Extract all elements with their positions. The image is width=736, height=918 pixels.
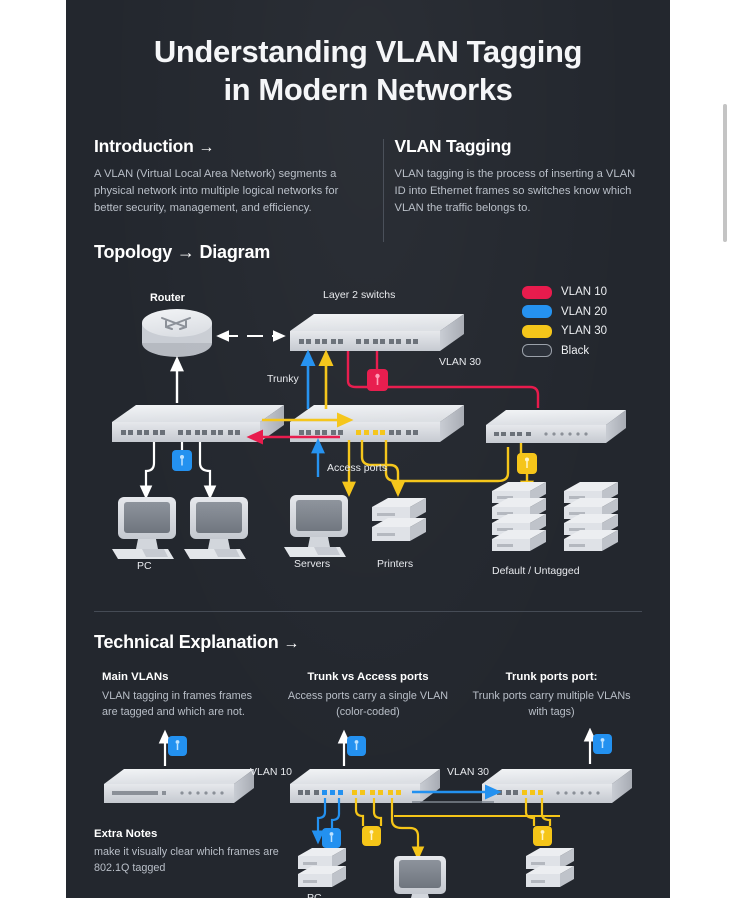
pc1-link [146, 442, 154, 493]
label-access-ports: Access ports [327, 462, 387, 474]
printer-device [372, 498, 426, 541]
untagged-rack-2 [564, 482, 618, 551]
introduction-heading-text: Introduction [94, 136, 194, 156]
legend-item-vlan20: VLAN 20 [522, 305, 642, 318]
label-router: Router [150, 292, 185, 304]
pc-device-2 [184, 497, 248, 559]
tech-switch-left [104, 769, 254, 803]
label-tech-vlan10: VLAN 10 [250, 766, 292, 778]
tech-tag-blue-4 [322, 828, 341, 848]
topology-heading: Topology → Diagram [94, 242, 642, 263]
label-layer2-switches: Layer 2 switchs [323, 289, 395, 301]
tech-tag-yellow-2 [533, 826, 552, 846]
tech-switch-center [290, 769, 440, 803]
introduction-body: A VLAN (Virtual Local Area Network) segm… [94, 166, 342, 217]
technical-column-main-vlans: Main VLANs VLAN tagging in frames frames… [94, 671, 275, 720]
topology-diagram: Router Layer 2 switchs Trunky VLAN 30 Ac… [94, 277, 642, 607]
tech-rack-right [526, 848, 574, 887]
page-scrollbar-thumb[interactable] [723, 104, 727, 242]
router-device [142, 309, 212, 357]
arrow-right-icon: → [198, 139, 214, 156]
page-title-line-2: in Modern Networks [94, 71, 642, 109]
technical-title-0: Main VLANs [102, 671, 267, 683]
vlan30-tag-icon [517, 453, 537, 474]
tech-monitor [388, 856, 446, 898]
label-printers: Printers [377, 558, 413, 570]
technical-body-2: Trunk ports carry multiple VLANs with ta… [469, 688, 634, 720]
legend-label-vlan20: VLAN 20 [561, 306, 607, 318]
server-device [284, 495, 348, 557]
infographic-inner: Understanding VLAN Tagging in Modern Net… [94, 0, 642, 898]
vlan-legend: VLAN 10 VLAN 20 YLAN 30 Black [522, 286, 642, 364]
vlan-tagging-body: VLAN tagging is the process of inserting… [395, 166, 643, 217]
intro-row: Introduction → A VLAN (Virtual Local Are… [94, 136, 642, 217]
label-servers: Servers [294, 558, 330, 570]
extra-notes: Extra Notes make it visually clear which… [94, 828, 309, 876]
vlan-tagging-heading: VLAN Tagging [395, 136, 643, 157]
page-title: Understanding VLAN Tagging in Modern Net… [94, 33, 642, 109]
technical-heading: Technical Explanation → [94, 632, 642, 653]
legend-item-vlan30: YLAN 30 [522, 325, 642, 338]
infographic-card: Understanding VLAN Tagging in Modern Net… [66, 0, 670, 898]
extra-notes-body: make it visually clear which frames are … [94, 844, 309, 876]
label-vlan30-link: VLAN 30 [439, 356, 481, 368]
arrow-right-icon-2: → [283, 635, 299, 652]
tech-tag-blue-2 [347, 736, 366, 756]
tech-tag-yellow-1 [362, 826, 381, 846]
technical-column-trunk-vs-access: Trunk vs Access ports Access ports carry… [275, 671, 461, 720]
vlan30-access-path [386, 440, 508, 481]
legend-swatch-vlan30 [522, 325, 552, 338]
pc2-link [200, 442, 210, 493]
legend-item-vlan10: VLAN 10 [522, 286, 642, 299]
label-pc: PC [137, 560, 152, 572]
technical-column-trunk-ports: Trunk ports port: Trunk ports carry mult… [461, 671, 642, 720]
extra-notes-title: Extra Notes [94, 828, 309, 840]
legend-label-vlan10: VLAN 10 [561, 286, 607, 298]
legend-swatch-black [522, 344, 552, 357]
section-divider [94, 611, 642, 612]
intro-vertical-divider [383, 139, 384, 242]
label-default-untagged: Default / Untagged [492, 565, 580, 577]
label-trunk: Trunky [267, 373, 299, 385]
introduction-heading: Introduction → [94, 136, 342, 157]
tech-yellow-drop-3 [392, 798, 418, 854]
pc-device-1 [112, 497, 176, 559]
untagged-rack-1 [492, 482, 546, 551]
legend-swatch-vlan10 [522, 286, 552, 299]
vlan20-tag-icon [172, 450, 192, 471]
intro-column-introduction: Introduction → A VLAN (Virtual Local Are… [94, 136, 366, 217]
legend-swatch-vlan20 [522, 305, 552, 318]
switch-right [486, 410, 626, 443]
legend-item-black: Black [522, 344, 642, 357]
page-title-line-1: Understanding VLAN Tagging [94, 33, 642, 71]
technical-body-1: Access ports carry a single VLAN (color-… [283, 688, 453, 720]
tech-switch-right [482, 769, 632, 803]
intro-column-vlan-tagging: VLAN Tagging VLAN tagging is the process… [366, 136, 643, 217]
technical-columns: Main VLANs VLAN tagging in frames frames… [94, 671, 642, 720]
tech-tag-blue-1 [168, 736, 187, 756]
screenshot-page: Understanding VLAN Tagging in Modern Net… [0, 0, 736, 918]
technical-title-2: Trunk ports port: [469, 671, 634, 683]
vlan10-tag-icon [367, 369, 388, 391]
label-tech-vlan30: VLAN 30 [447, 766, 489, 778]
legend-label-vlan30: YLAN 30 [561, 325, 607, 337]
legend-label-black: Black [561, 345, 589, 357]
technical-heading-text: Technical Explanation [94, 632, 279, 652]
technical-body-0: VLAN tagging in frames frames are tagged… [102, 688, 267, 720]
technical-title-1: Trunk vs Access ports [283, 671, 453, 683]
tech-tag-blue-3 [593, 734, 612, 754]
switch-top [290, 314, 464, 351]
label-tech-pc: PC [307, 892, 322, 898]
